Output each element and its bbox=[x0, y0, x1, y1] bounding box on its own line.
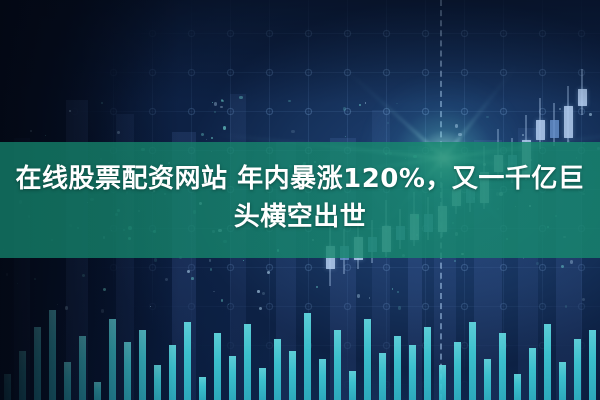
banner-image: 在线股票配资网站 年内暴涨120%，又一千亿巨 头横空出世 bbox=[0, 0, 600, 400]
page-title: 在线股票配资网站 年内暴涨120%，又一千亿巨 头横空出世 bbox=[0, 160, 600, 236]
